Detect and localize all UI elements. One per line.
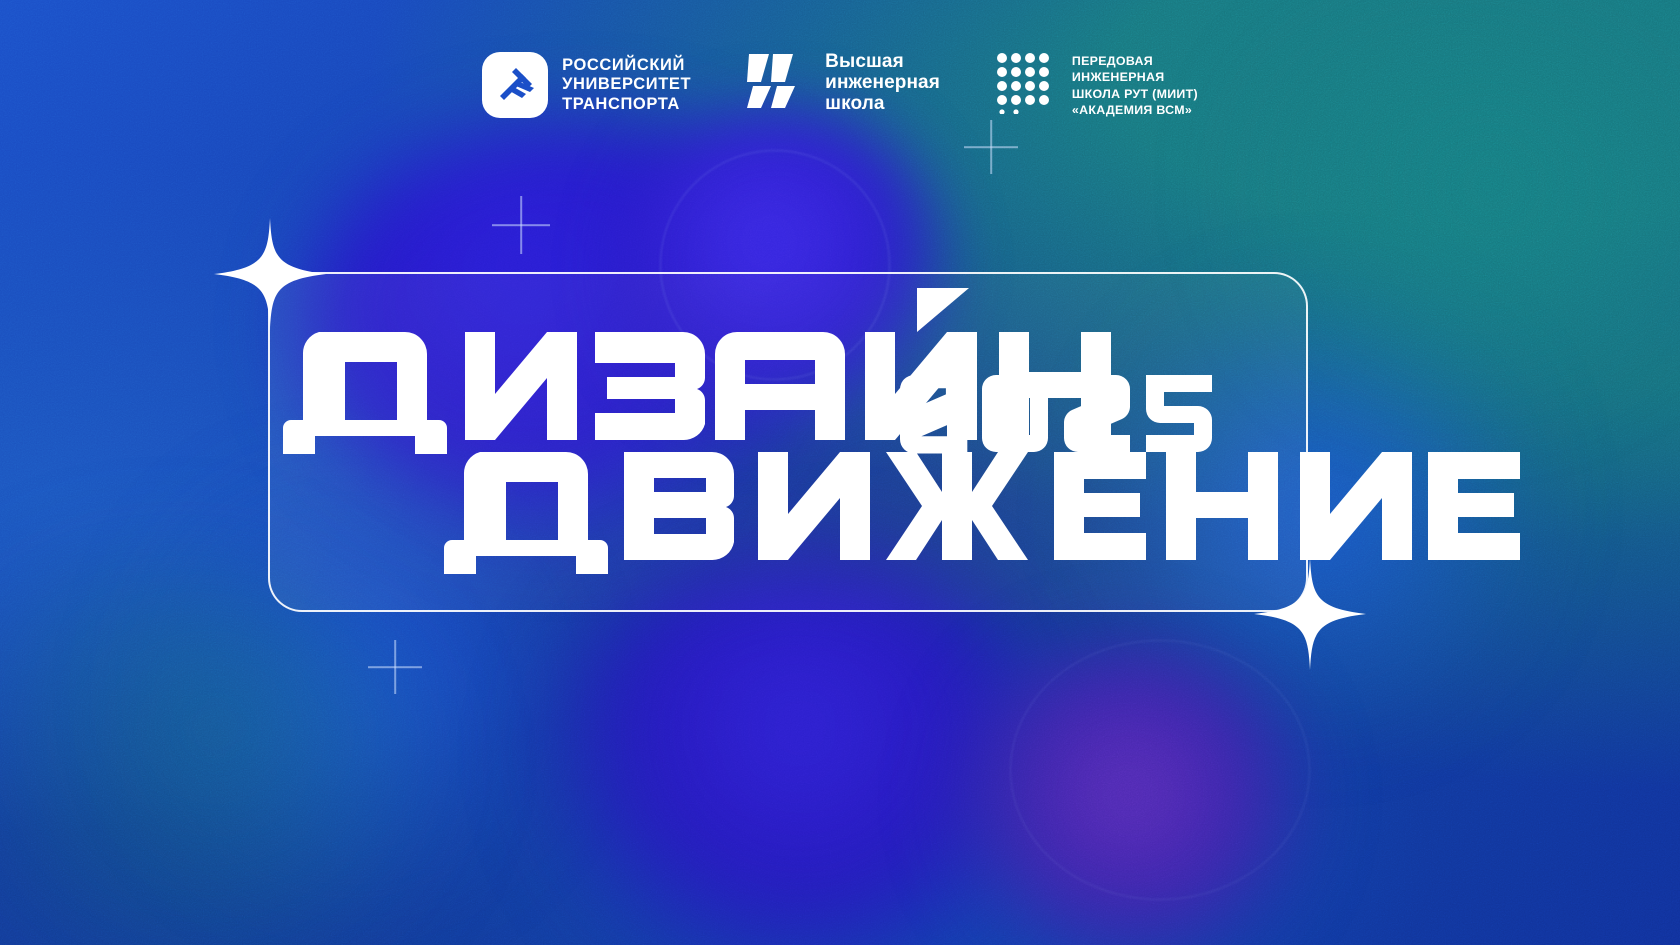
vish-chevrons-mark-icon: [747, 52, 811, 115]
logo-bar: РОССИЙСКИЙ УНИВЕРСИТЕТ ТРАНСПОРТА Высшая…: [0, 52, 1680, 119]
logo-rut-label: РОССИЙСКИЙ УНИВЕРСИТЕТ ТРАНСПОРТА: [562, 56, 691, 113]
background-circle-outline-lower: [1010, 640, 1310, 900]
pish-dot-grid-mark-icon: [996, 52, 1058, 119]
plus-marker-icon: [964, 120, 1018, 174]
poster-canvas: РОССИЙСКИЙ УНИВЕРСИТЕТ ТРАНСПОРТА Высшая…: [0, 0, 1680, 945]
logo-vish-label: Высшая инженерная школа: [825, 52, 940, 115]
logo-vish: Высшая инженерная школа: [747, 52, 940, 115]
logo-rut: РОССИЙСКИЙ УНИВЕРСИТЕТ ТРАНСПОРТА: [482, 52, 691, 118]
rut-arrow-mark-icon: [482, 52, 548, 118]
logo-pish: ПЕРЕДОВАЯ ИНЖЕНЕРНАЯ ШКОЛА РУТ (МИИТ) «А…: [996, 52, 1198, 119]
logo-pish-label: ПЕРЕДОВАЯ ИНЖЕНЕРНАЯ ШКОЛА РУТ (МИИТ) «А…: [1072, 53, 1198, 119]
plus-marker-icon: [368, 640, 422, 694]
plus-marker-icon: [492, 196, 550, 254]
title-frame: [268, 272, 1308, 612]
